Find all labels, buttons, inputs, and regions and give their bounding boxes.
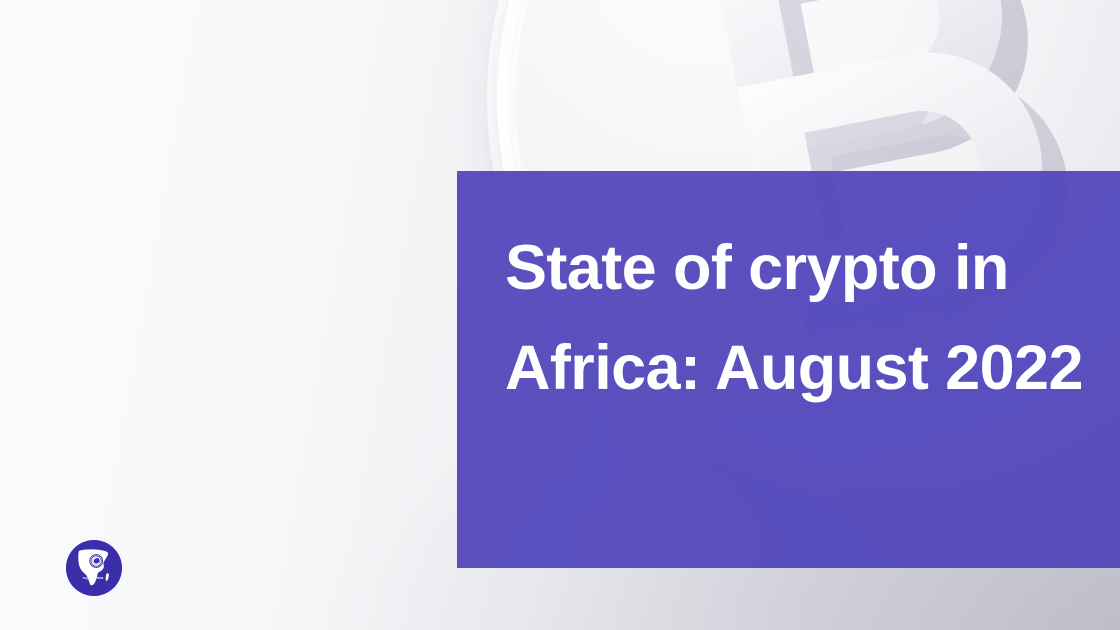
title-panel: State of crypto in Africa: August 2022	[457, 171, 1120, 568]
page-title: State of crypto in Africa: August 2022	[505, 218, 1085, 418]
africa-map-icon	[66, 540, 122, 596]
cryptoafrica-logo[interactable]: the cryptoafrica	[66, 540, 122, 596]
crypto-africa-banner: State of crypto in Africa: August 2022	[0, 0, 1120, 630]
